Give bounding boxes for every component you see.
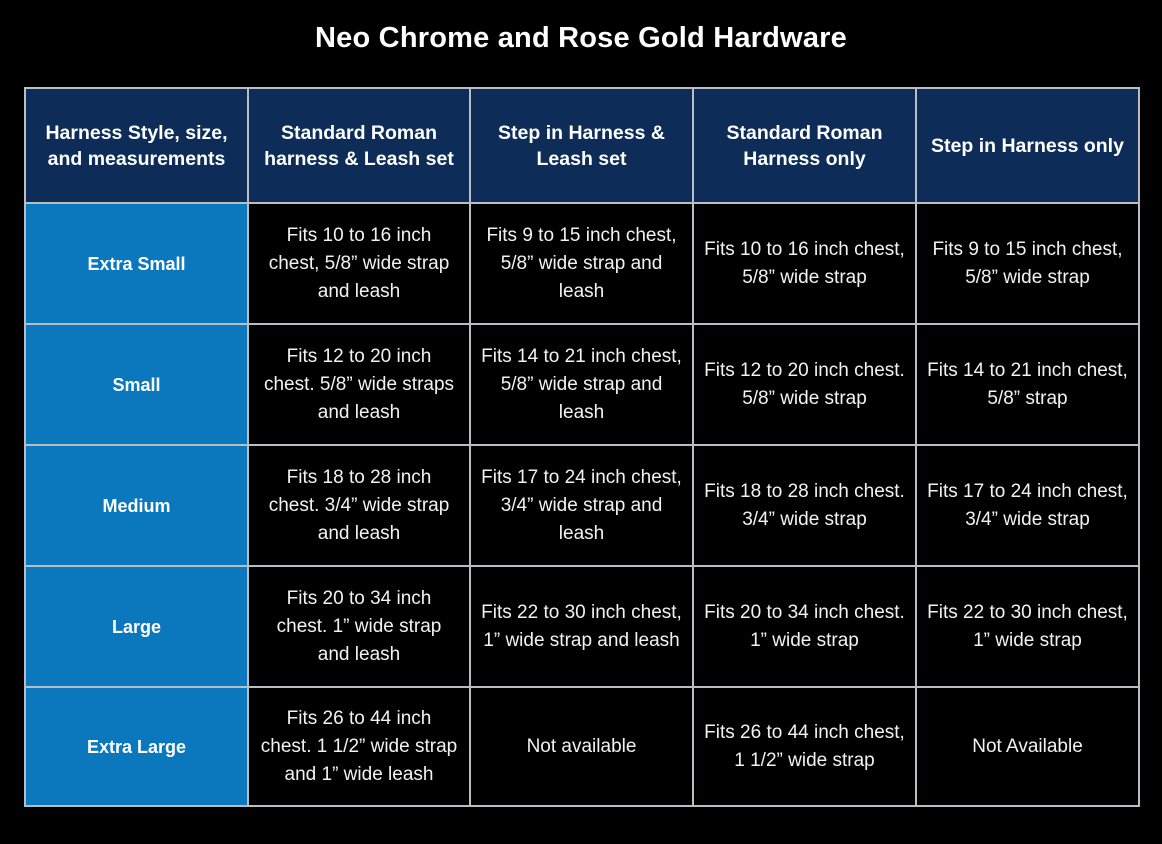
cell-small-standard-roman-only: Fits 12 to 20 inch chest. 5/8” wide stra… bbox=[694, 325, 917, 446]
size-label-extra-small: Extra Small bbox=[24, 204, 249, 325]
cell-large-standard-roman-only: Fits 20 to 34 inch chest. 1” wide strap bbox=[694, 567, 917, 688]
size-label-large: Large bbox=[24, 567, 249, 688]
table-row: Large Fits 20 to 34 inch chest. 1” wide … bbox=[24, 567, 1140, 688]
column-header-standard-roman-harness-only: Standard Roman Harness only bbox=[694, 87, 917, 204]
cell-extra-small-step-in-only: Fits 9 to 15 inch chest, 5/8” wide strap bbox=[917, 204, 1140, 325]
table-row: Medium Fits 18 to 28 inch chest. 3/4” wi… bbox=[24, 446, 1140, 567]
page-root: Neo Chrome and Rose Gold Hardware Harnes… bbox=[0, 0, 1162, 844]
cell-small-standard-roman-set: Fits 12 to 20 inch chest. 5/8” wide stra… bbox=[249, 325, 471, 446]
cell-extra-large-standard-roman-set: Fits 26 to 44 inch chest. 1 1/2” wide st… bbox=[249, 688, 471, 807]
cell-extra-large-standard-roman-only: Fits 26 to 44 inch chest, 1 1/2” wide st… bbox=[694, 688, 917, 807]
cell-medium-step-in-set: Fits 17 to 24 inch chest, 3/4” wide stra… bbox=[471, 446, 694, 567]
table-row: Extra Large Fits 26 to 44 inch chest. 1 … bbox=[24, 688, 1140, 807]
cell-large-step-in-set: Fits 22 to 30 inch chest, 1” wide strap … bbox=[471, 567, 694, 688]
cell-small-step-in-set: Fits 14 to 21 inch chest, 5/8” wide stra… bbox=[471, 325, 694, 446]
page-title: Neo Chrome and Rose Gold Hardware bbox=[0, 18, 1162, 58]
column-header-step-in-harness-leash-set: Step in Harness & Leash set bbox=[471, 87, 694, 204]
harness-size-table: Harness Style, size, and measurements St… bbox=[24, 87, 1140, 807]
header-row: Harness Style, size, and measurements St… bbox=[24, 87, 1140, 204]
cell-medium-standard-roman-only: Fits 18 to 28 inch chest. 3/4” wide stra… bbox=[694, 446, 917, 567]
cell-extra-small-step-in-set: Fits 9 to 15 inch chest, 5/8” wide strap… bbox=[471, 204, 694, 325]
table-header: Harness Style, size, and measurements St… bbox=[24, 87, 1140, 204]
table-body: Extra Small Fits 10 to 16 inch chest, 5/… bbox=[24, 204, 1140, 807]
column-header-standard-roman-harness-leash-set: Standard Roman harness & Leash set bbox=[249, 87, 471, 204]
size-label-extra-large: Extra Large bbox=[24, 688, 249, 807]
column-header-step-in-harness-only: Step in Harness only bbox=[917, 87, 1140, 204]
cell-extra-large-step-in-set: Not available bbox=[471, 688, 694, 807]
cell-large-standard-roman-set: Fits 20 to 34 inch chest. 1” wide strap … bbox=[249, 567, 471, 688]
cell-extra-small-standard-roman-set: Fits 10 to 16 inch chest, 5/8” wide stra… bbox=[249, 204, 471, 325]
cell-extra-small-standard-roman-only: Fits 10 to 16 inch chest, 5/8” wide stra… bbox=[694, 204, 917, 325]
cell-medium-standard-roman-set: Fits 18 to 28 inch chest. 3/4” wide stra… bbox=[249, 446, 471, 567]
table-row: Small Fits 12 to 20 inch chest. 5/8” wid… bbox=[24, 325, 1140, 446]
size-label-medium: Medium bbox=[24, 446, 249, 567]
column-header-size: Harness Style, size, and measurements bbox=[24, 87, 249, 204]
table-row: Extra Small Fits 10 to 16 inch chest, 5/… bbox=[24, 204, 1140, 325]
cell-small-step-in-only: Fits 14 to 21 inch chest, 5/8” strap bbox=[917, 325, 1140, 446]
cell-extra-large-step-in-only: Not Available bbox=[917, 688, 1140, 807]
cell-medium-step-in-only: Fits 17 to 24 inch chest, 3/4” wide stra… bbox=[917, 446, 1140, 567]
size-label-small: Small bbox=[24, 325, 249, 446]
cell-large-step-in-only: Fits 22 to 30 inch chest, 1” wide strap bbox=[917, 567, 1140, 688]
